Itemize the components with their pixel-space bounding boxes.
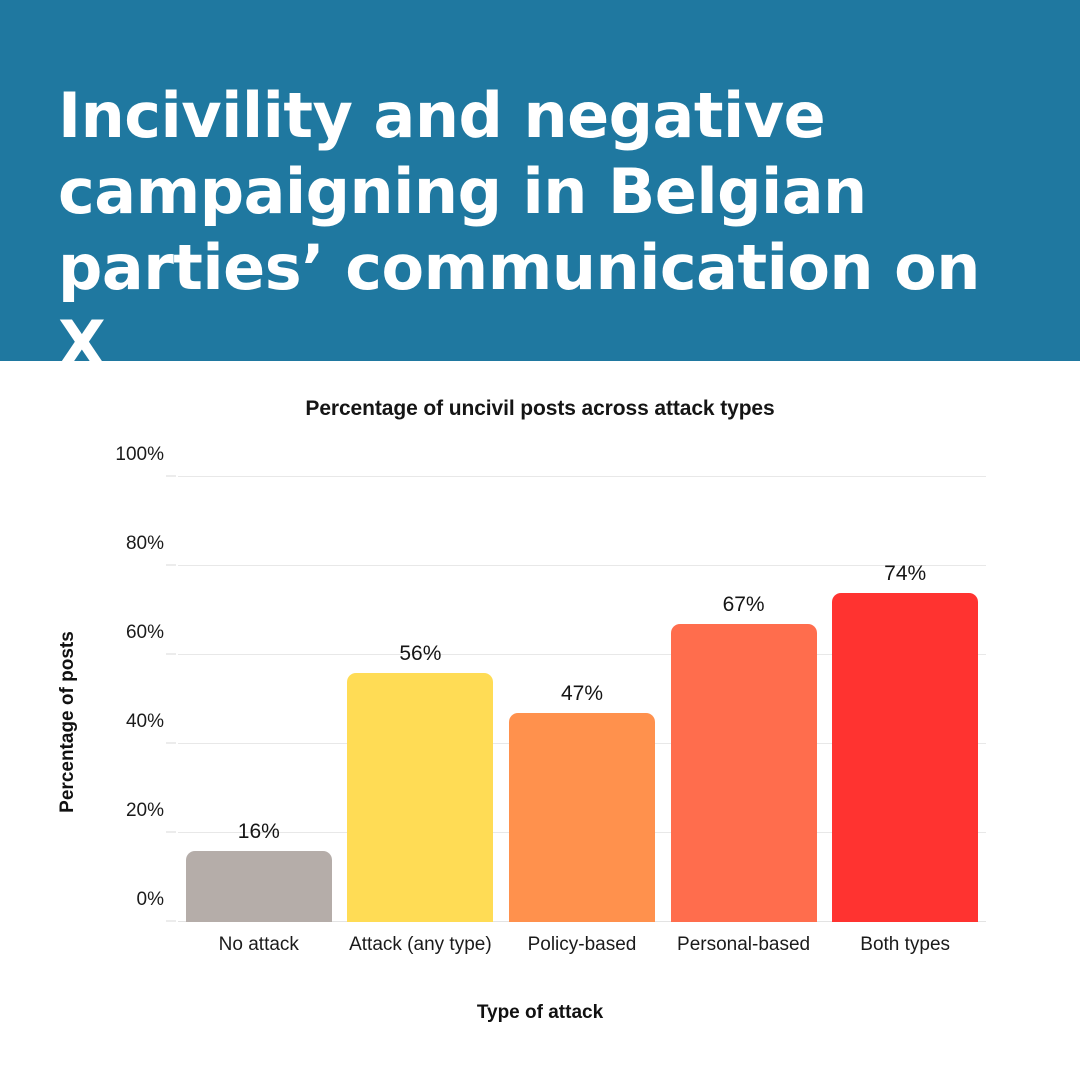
bar-value-label: 74% [884,562,926,586]
y-axis-tick-mark [166,476,176,477]
plot-area: 0%20%40%60%80%100% 16%56%47%67%74% [178,477,986,922]
bar[interactable]: 56% [347,673,493,922]
bar-slot: 74% [824,477,986,922]
y-axis-tick-label: 20% [126,800,164,822]
bar-slot: 16% [178,477,340,922]
y-axis-tick-mark [166,654,176,655]
x-axis-tick-label: Attack (any type) [340,934,502,956]
bar-slot: 67% [663,477,825,922]
x-axis-tick-label: Policy-based [501,934,663,956]
x-axis-tick-label: Both types [824,934,986,956]
y-axis-tick-label: 60% [126,622,164,644]
bar[interactable]: 47% [509,713,655,922]
bar-value-label: 56% [399,642,441,666]
header-banner: Incivility and negative campaigning in B… [0,0,1080,361]
y-axis-tick-label: 40% [126,711,164,733]
x-axis-tick-label: Personal-based [663,934,825,956]
bar-value-label: 16% [238,820,280,844]
y-axis-title: Percentage of posts [57,592,79,852]
bar-series: 16%56%47%67%74% [178,477,986,922]
x-axis-title: Type of attack [0,1002,1080,1024]
page-title: Incivility and negative campaigning in B… [58,78,1018,382]
bar[interactable]: 74% [832,593,978,922]
y-axis-tick-label: 80% [126,533,164,555]
bar-slot: 47% [501,477,663,922]
chart-container: Percentage of uncivil posts across attac… [0,361,1080,1080]
x-axis-tick-label: No attack [178,934,340,956]
bar[interactable]: 16% [186,851,332,922]
y-axis-tick-mark [166,743,176,744]
y-axis-tick-mark [166,565,176,566]
y-axis-tick-label: 0% [137,889,164,911]
bar-slot: 56% [340,477,502,922]
y-axis-tick-mark [166,921,176,922]
x-axis-tick-labels: No attackAttack (any type)Policy-basedPe… [178,934,986,956]
y-axis-tick-mark [166,832,176,833]
bar-value-label: 67% [723,593,765,617]
bar-value-label: 47% [561,682,603,706]
y-axis-tick-label: 100% [115,444,164,466]
infographic-root: Incivility and negative campaigning in B… [0,0,1080,1080]
bar[interactable]: 67% [671,624,817,922]
chart-title: Percentage of uncivil posts across attac… [0,397,1080,421]
